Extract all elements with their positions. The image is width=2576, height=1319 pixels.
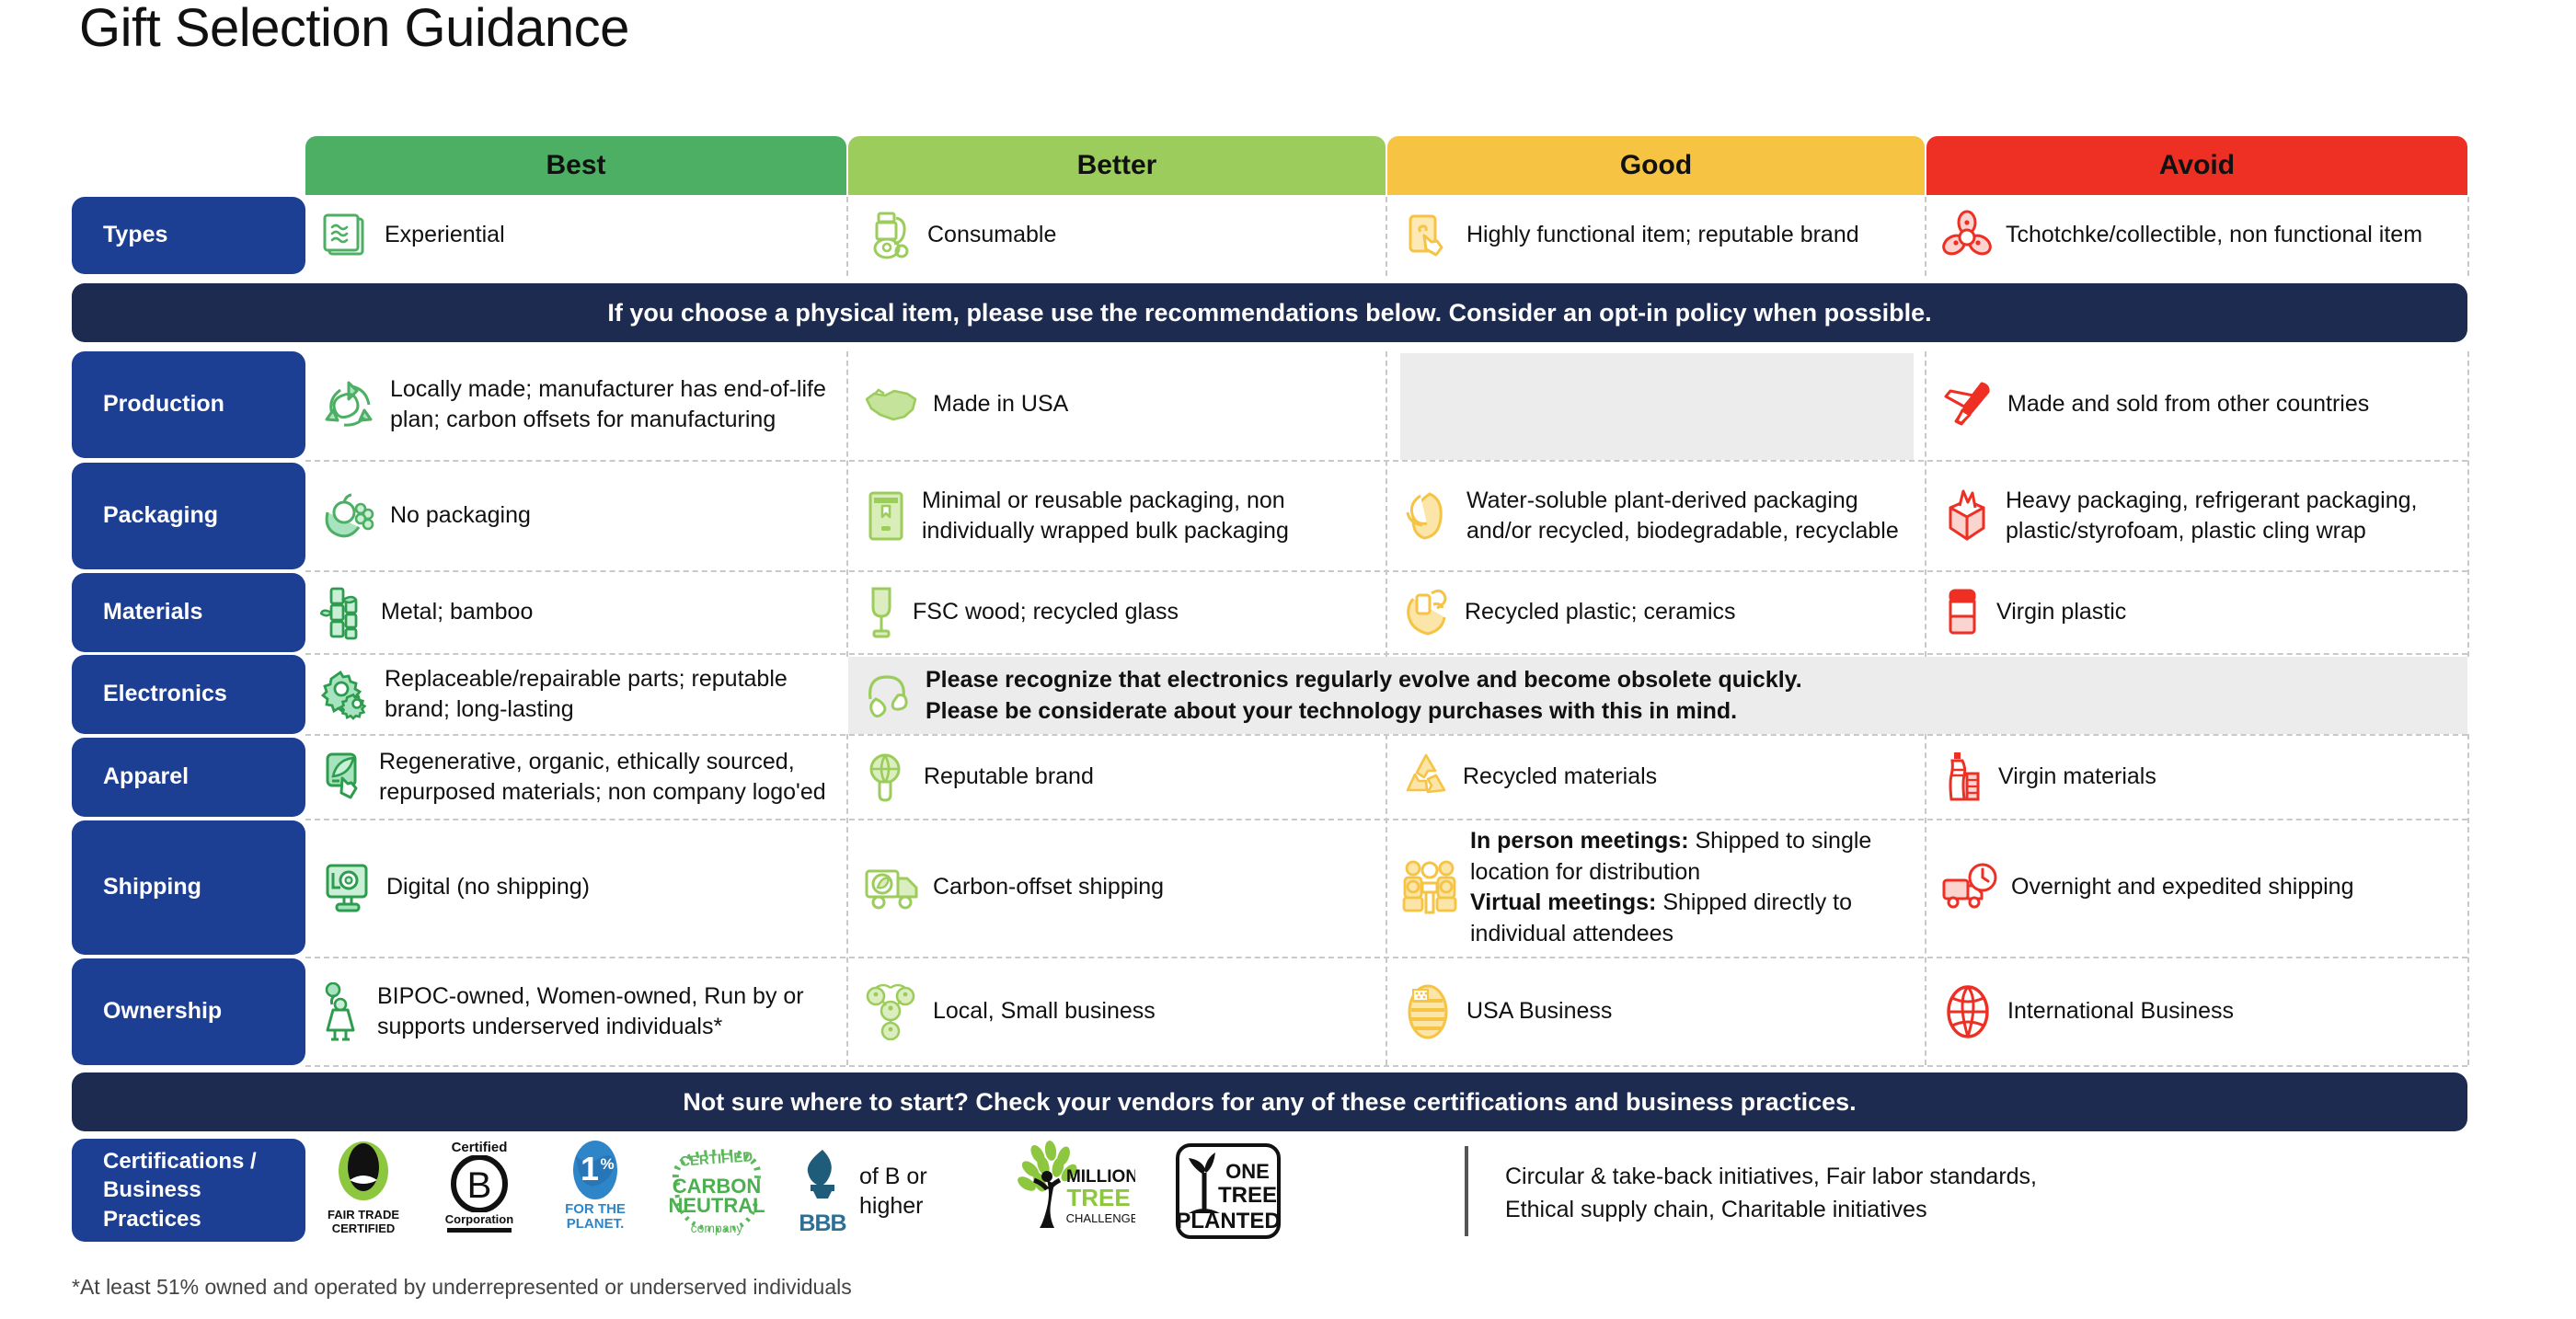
- cell-shipping-good-line1-bold: In person meetings:: [1470, 828, 1689, 854]
- wine-glass-icon: [863, 584, 900, 641]
- row-label-apparel-text: Apparel: [103, 763, 189, 791]
- column-header-best-label: Best: [546, 150, 605, 181]
- cell-apparel-avoid: Virgin materials: [1926, 738, 2467, 817]
- bbb-torch-icon: [795, 1146, 850, 1216]
- million-tree-challenge-logo: MILLION TREE CHALLENGE: [1006, 1140, 1144, 1243]
- column-header-best: Best: [305, 136, 846, 195]
- row-label-ownership: Ownership: [72, 958, 305, 1065]
- electronics-note-line1: Please recognize that electronics regula…: [926, 664, 1802, 695]
- heavy-box-icon: [1941, 487, 1993, 545]
- bcorp-top: Certified: [452, 1140, 508, 1155]
- plastic-roll-icon: [1941, 585, 1984, 640]
- row-label-electronics-text: Electronics: [103, 680, 227, 708]
- row-label-certifications-text: Certifications /BusinessPractices: [103, 1147, 257, 1233]
- cell-apparel-good-text: Recycled materials: [1463, 762, 1657, 793]
- svg-text:PLANTED: PLANTED: [1176, 1209, 1280, 1233]
- banner-certifications: Not sure where to start? Check your vend…: [72, 1072, 2467, 1131]
- svg-text:ONE: ONE: [1225, 1160, 1270, 1183]
- cell-packaging-good-text: Water-soluble plant-derived packaging an…: [1466, 486, 1912, 547]
- one-percent-globe-icon: 1 %: [567, 1140, 624, 1204]
- svg-text:CERTIFIED: CERTIFIED: [680, 1149, 753, 1169]
- cell-ownership-good-text: USA Business: [1466, 996, 1612, 1027]
- bcorp-underline: [447, 1228, 512, 1233]
- gears-icon: [320, 669, 372, 720]
- cell-production-avoid-text: Made and sold from other countries: [2007, 389, 2369, 420]
- cell-materials-avoid: Virgin plastic: [1926, 573, 2467, 652]
- column-separator-2: [1386, 197, 1387, 276]
- cell-apparel-avoid-text: Virgin materials: [1998, 762, 2156, 793]
- column-header-better-label: Better: [1077, 150, 1157, 181]
- gift-selection-guidance-slide: Gift Selection Guidance Best Better Good…: [0, 0, 2576, 1319]
- row-label-materials-text: Materials: [103, 598, 202, 626]
- cell-shipping-best-text: Digital (no shipping): [386, 872, 590, 903]
- cell-materials-good: Recycled plastic; ceramics: [1387, 573, 1925, 652]
- svg-text:B: B: [467, 1165, 492, 1206]
- blender-icon: [863, 210, 914, 261]
- fidget-spinner-icon: [1941, 210, 1993, 261]
- column-separator-3: [1925, 197, 1926, 276]
- row-label-ownership-text: Ownership: [103, 997, 222, 1026]
- cell-shipping-better: Carbon-offset shipping: [848, 820, 1386, 955]
- ticket-icon: [320, 212, 372, 259]
- cell-types-better: Consumable: [848, 197, 1386, 274]
- million-tree-mark-icon: MILLION TREE CHALLENGE: [1006, 1140, 1135, 1239]
- cell-electronics-best: Replaceable/repairable parts; reputable …: [305, 655, 846, 734]
- row-separator-ownership: [305, 1065, 2467, 1067]
- headphones-icon: [863, 668, 911, 723]
- certified-carbon-neutral-logo: CERTIFIED CARBON NEUTRAL company: [653, 1140, 782, 1243]
- row-label-types: Types: [72, 197, 305, 274]
- banner-certifications-text: Not sure where to start? Check your vend…: [683, 1088, 1856, 1117]
- cell-types-avoid-text: Tchotchke/collectible, non functional it…: [2006, 220, 2422, 251]
- column-header-avoid-label: Avoid: [2159, 150, 2235, 181]
- column-header-good-label: Good: [1620, 150, 1692, 181]
- column-separator-1b: [846, 351, 848, 657]
- plastic-bottle-icon: [1941, 750, 1985, 805]
- bcorp-bottom: Corporation: [445, 1212, 513, 1226]
- cell-types-avoid: Tchotchke/collectible, non functional it…: [1926, 197, 2467, 274]
- bamboo-icon: [320, 585, 368, 640]
- business-practices-text: Circular & take-back initiatives, Fair l…: [1505, 1161, 2037, 1226]
- leaves-icon: [1402, 488, 1454, 544]
- cell-packaging-best: No packaging: [305, 463, 846, 569]
- footnote: *At least 51% owned and operated by unde…: [72, 1275, 852, 1300]
- cell-types-good-text: Highly functional item; reputable brand: [1466, 220, 1859, 251]
- svg-text:TREE: TREE: [1066, 1184, 1130, 1211]
- bbb-logo: BBB of B orhigher: [795, 1140, 1006, 1243]
- eco-truck-icon: [863, 864, 920, 912]
- column-separator-3c: [1925, 734, 1926, 1065]
- one-tree-planted-mark-icon: ONE TREE PLANTED: [1174, 1141, 1282, 1241]
- row-separator-apparel: [305, 819, 2467, 820]
- cell-shipping-better-text: Carbon-offset shipping: [933, 872, 1164, 903]
- certifications-divider: [1465, 1146, 1468, 1236]
- row-label-packaging: Packaging: [72, 463, 305, 569]
- b-corporation-logo: Certified B Corporation: [421, 1140, 537, 1243]
- cell-ownership-better: Local, Small business: [848, 958, 1386, 1065]
- business-practices-line1: Circular & take-back initiatives, Fair l…: [1505, 1161, 2037, 1194]
- row-label-shipping: Shipping: [72, 820, 305, 955]
- cell-materials-better: FSC wood; recycled glass: [848, 573, 1386, 652]
- cell-production-avoid: Made and sold from other countries: [1926, 351, 2467, 458]
- cell-types-good: Highly functional item; reputable brand: [1387, 197, 1925, 274]
- business-practices-line2: Ethical supply chain, Charitable initiat…: [1505, 1194, 2037, 1227]
- row-separator-production: [305, 460, 2467, 462]
- certification-logos: FAIR TRADE CERTIFIED Certified B Corpora…: [305, 1135, 1297, 1247]
- cell-materials-better-text: FSC wood; recycled glass: [913, 597, 1179, 628]
- column-header-good: Good: [1387, 136, 1925, 195]
- recycle-symbol-icon: [1402, 751, 1450, 803]
- cell-ownership-good: USA Business: [1387, 958, 1925, 1065]
- banner-physical-item-text: If you choose a physical item, please us…: [607, 299, 1931, 327]
- cell-apparel-best: Regenerative, organic, ethically sourced…: [305, 734, 846, 820]
- one-percent-for-the-planet-logo: 1 % FOR THE PLANET.: [537, 1140, 653, 1243]
- cell-production-better: Made in USA: [848, 351, 1386, 458]
- fair-trade-line1: FAIR TRADE: [328, 1209, 399, 1222]
- svg-text:1: 1: [581, 1150, 599, 1187]
- cell-materials-best-text: Metal; bamboo: [381, 597, 533, 628]
- bbb-caption: of B orhigher: [859, 1162, 927, 1221]
- woman-raising-hand-icon: [320, 982, 364, 1041]
- express-truck-clock-icon: [1941, 862, 1998, 913]
- cell-shipping-avoid-text: Overnight and expedited shipping: [2011, 872, 2354, 903]
- cardboard-box-icon: [863, 487, 909, 545]
- cell-apparel-good: Recycled materials: [1387, 738, 1925, 817]
- tap-phone-icon: [1402, 210, 1454, 261]
- cell-apparel-better-text: Reputable brand: [924, 762, 1094, 793]
- cell-ownership-avoid-text: International Business: [2007, 996, 2234, 1027]
- row-label-shipping-text: Shipping: [103, 873, 201, 901]
- bbb-mark: BBB: [799, 1210, 845, 1237]
- column-separator-2b: [1386, 351, 1387, 657]
- monitor-gear-icon: [320, 860, 374, 915]
- svg-text:NEUTRAL: NEUTRAL: [668, 1194, 765, 1217]
- one-percent-line2: PLANET.: [565, 1217, 626, 1232]
- column-separator-1c: [846, 734, 848, 1065]
- fabric-leaf-icon: [320, 751, 366, 804]
- svg-text:CHALLENGE: CHALLENGE: [1066, 1211, 1135, 1225]
- cell-shipping-best: Digital (no shipping): [305, 820, 846, 955]
- produce-bag-icon: [320, 490, 377, 542]
- cell-shipping-good: In person meetings: Shipped to single lo…: [1387, 820, 1925, 955]
- cell-shipping-avoid: Overnight and expedited shipping: [1926, 820, 2467, 955]
- cell-shipping-good-line1: In person meetings: Shipped to single lo…: [1470, 826, 1912, 888]
- one-tree-planted-logo: ONE TREE PLANTED: [1159, 1140, 1297, 1243]
- one-percent-line1: FOR THE: [565, 1202, 626, 1217]
- fair-trade-mark-icon: [329, 1140, 397, 1208]
- row-label-production: Production: [72, 351, 305, 458]
- cell-packaging-avoid-text: Heavy packaging, refrigerant packaging, …: [2006, 486, 2455, 547]
- cell-packaging-avoid: Heavy packaging, refrigerant packaging, …: [1926, 463, 2467, 569]
- column-separator-1: [846, 197, 848, 276]
- column-separator-2c: [1386, 734, 1387, 1065]
- cell-production-best: Locally made; manufacturer has end-of-li…: [305, 351, 846, 458]
- cell-shipping-good-line2-bold: Virtual meetings:: [1470, 889, 1656, 915]
- svg-text:TREE: TREE: [1218, 1183, 1277, 1208]
- cell-types-best-text: Experiential: [385, 220, 505, 251]
- cell-production-good: [1387, 351, 1925, 458]
- cell-ownership-best-text: BIPOC-owned, Women-owned, Run by or supp…: [377, 981, 834, 1043]
- cell-ownership-avoid: International Business: [1926, 958, 2467, 1065]
- row-separator-materials: [305, 653, 2467, 655]
- usa-map-icon: [863, 383, 920, 427]
- usa-seal-icon: [1402, 982, 1454, 1041]
- cell-apparel-best-text: Regenerative, organic, ethically sourced…: [379, 747, 834, 809]
- fair-trade-line2: CERTIFIED: [328, 1222, 399, 1236]
- recycled-plastic-icon: [1402, 584, 1452, 641]
- electronics-note: Please recognize that electronics regula…: [848, 657, 2467, 734]
- cell-types-best: Experiential: [305, 197, 846, 274]
- cell-types-better-text: Consumable: [927, 220, 1056, 251]
- row-label-apparel: Apparel: [72, 738, 305, 817]
- column-separator-right-c: [2467, 734, 2469, 1065]
- fair-trade-certified-logo: FAIR TRADE CERTIFIED: [305, 1140, 421, 1243]
- row-label-certifications: Certifications /BusinessPractices: [72, 1139, 305, 1242]
- svg-text:%: %: [600, 1155, 614, 1173]
- recycle-arrows-icon: [320, 377, 377, 432]
- row-label-packaging-text: Packaging: [103, 501, 218, 530]
- cell-ownership-best: BIPOC-owned, Women-owned, Run by or supp…: [305, 958, 846, 1065]
- column-header-better: Better: [848, 136, 1386, 195]
- column-separator-right-top: [2467, 197, 2469, 276]
- cell-apparel-better: Reputable brand: [848, 738, 1386, 817]
- row-separator-shipping: [305, 957, 2467, 958]
- cell-ownership-better-text: Local, Small business: [933, 996, 1156, 1027]
- airplane-icon: [1941, 378, 1995, 431]
- carbon-neutral-mark-icon: CERTIFIED CARBON NEUTRAL company: [657, 1140, 776, 1239]
- cell-shipping-good-line2: Virtual meetings: Shipped directly to in…: [1470, 888, 1912, 949]
- globe-icon: [1941, 983, 1995, 1040]
- cell-electronics-best-text: Replaceable/repairable parts; reputable …: [385, 664, 834, 726]
- network-people-icon: [863, 983, 920, 1040]
- cell-production-best-text: Locally made; manufacturer has end-of-li…: [390, 374, 834, 436]
- electronics-note-line2: Please be considerate about your technol…: [926, 695, 1802, 727]
- people-group-icon: [1402, 857, 1457, 918]
- cell-packaging-better: Minimal or reusable packaging, non indiv…: [848, 463, 1386, 569]
- row-label-electronics: Electronics: [72, 655, 305, 734]
- svg-text:company: company: [691, 1221, 743, 1235]
- cell-materials-good-text: Recycled plastic; ceramics: [1465, 597, 1736, 628]
- row-separator-electronics: [305, 734, 2467, 736]
- column-separator-right-b: [2467, 351, 2469, 657]
- banner-physical-item: If you choose a physical item, please us…: [72, 283, 2467, 342]
- cell-packaging-good: Water-soluble plant-derived packaging an…: [1387, 463, 1925, 569]
- row-separator-packaging: [305, 570, 2467, 572]
- cell-production-better-text: Made in USA: [933, 389, 1068, 420]
- column-header-avoid: Avoid: [1926, 136, 2467, 195]
- cell-materials-best: Metal; bamboo: [305, 573, 846, 652]
- row-label-production-text: Production: [103, 390, 224, 419]
- cell-packaging-better-text: Minimal or reusable packaging, non indiv…: [922, 486, 1373, 547]
- page-title: Gift Selection Guidance: [79, 0, 629, 60]
- cell-materials-avoid-text: Virgin plastic: [1996, 597, 2126, 628]
- row-label-materials: Materials: [72, 573, 305, 652]
- cell-packaging-best-text: No packaging: [390, 500, 531, 532]
- globe-fabric-icon: [863, 751, 911, 804]
- row-label-types-text: Types: [103, 221, 167, 249]
- bcorp-mark-icon: B: [449, 1155, 510, 1212]
- column-separator-3b: [1925, 351, 1926, 657]
